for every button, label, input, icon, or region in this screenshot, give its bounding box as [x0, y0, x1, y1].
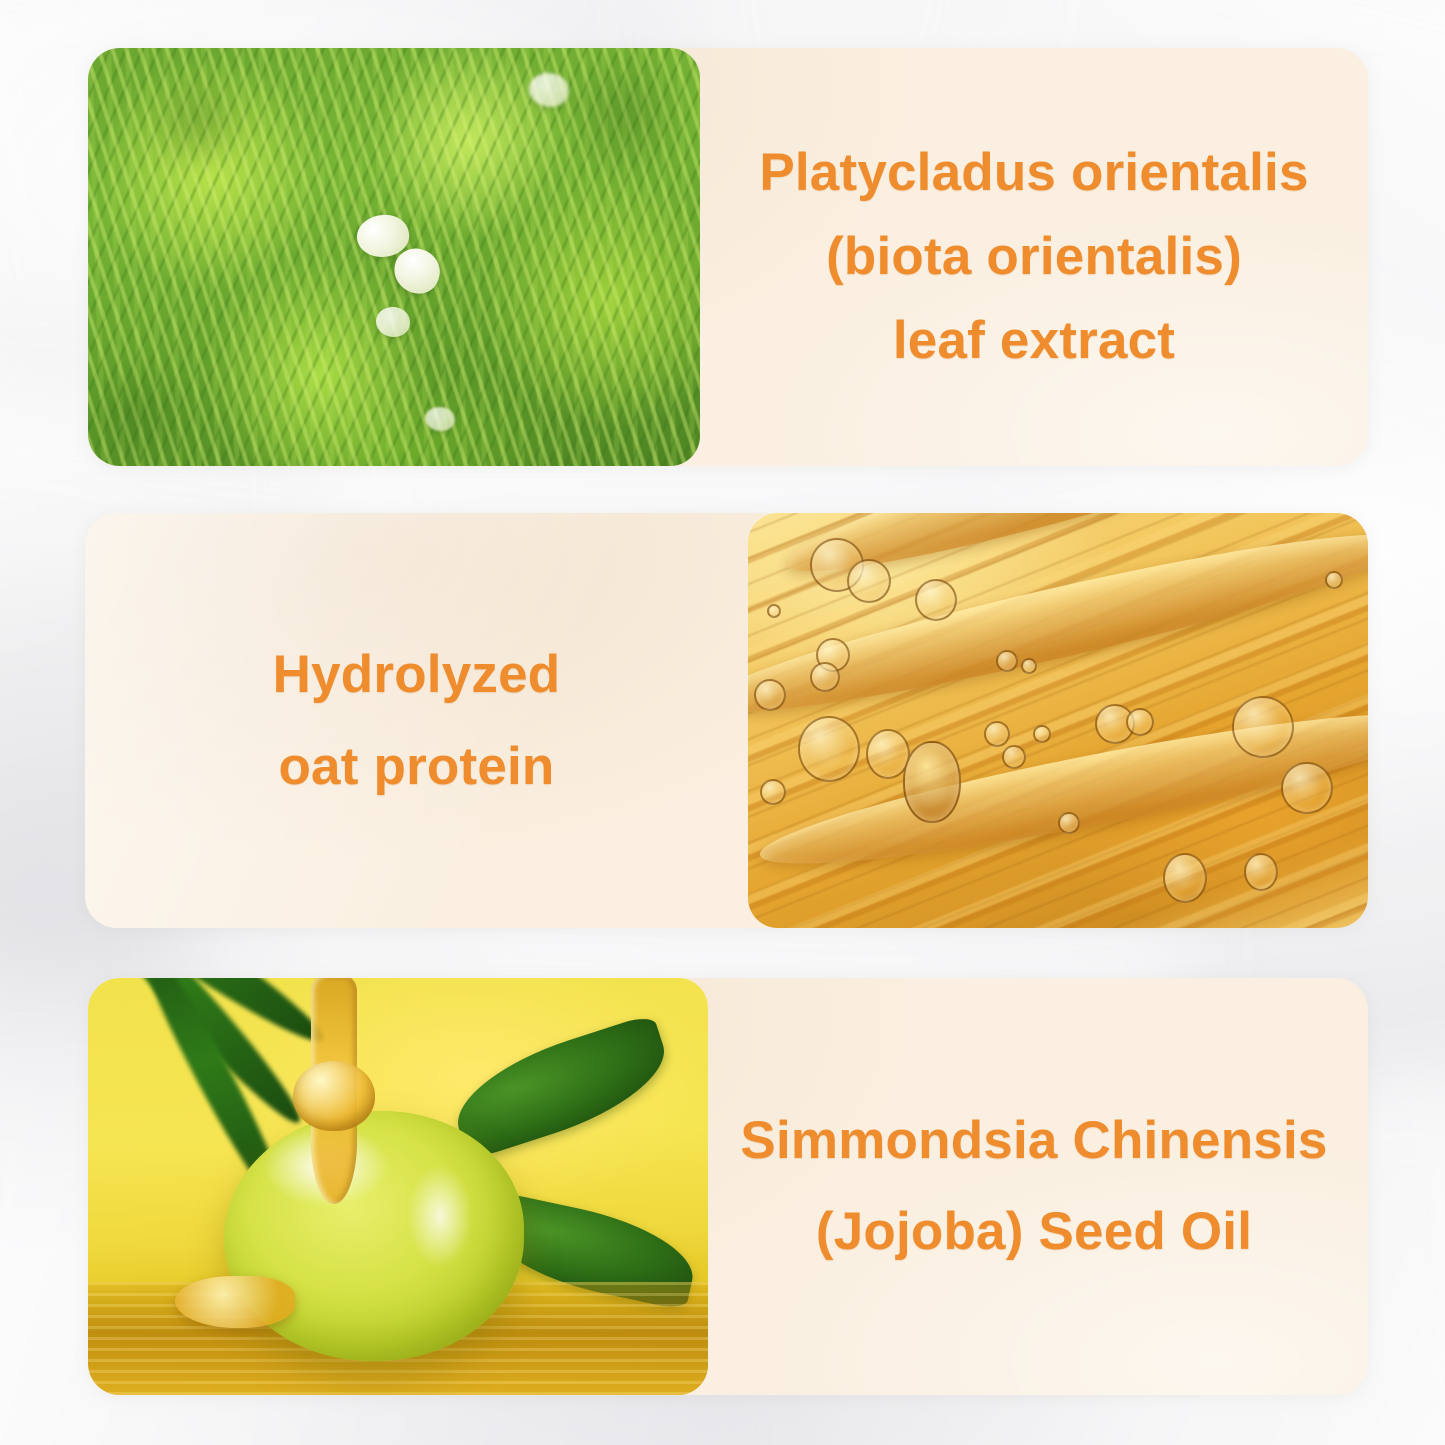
oil-bubble — [847, 559, 891, 603]
oil-bubble — [1232, 696, 1294, 758]
oil-bubble — [1281, 762, 1333, 814]
oil-bubble — [1021, 658, 1037, 674]
oil-bubble — [767, 604, 781, 618]
cypress-cone — [529, 73, 569, 107]
wheat-in-oil-photo — [748, 513, 1368, 928]
oil-bubble — [1058, 812, 1080, 834]
jojoba-fruit-oil-photo — [88, 978, 708, 1395]
oil-bubble — [754, 679, 786, 711]
label-line: oat protein — [278, 721, 554, 812]
label-line: Hydrolyzed — [273, 629, 561, 720]
oil-bubble — [984, 721, 1010, 747]
label-line: Simmondsia Chinensis — [740, 1096, 1327, 1186]
oil-bubble — [903, 741, 961, 823]
foliage-depth-blur — [88, 48, 700, 466]
oil-bubble — [1033, 725, 1051, 743]
ingredient-label-biota: Platycladus orientalis (biota orientalis… — [700, 48, 1368, 466]
ingredient-label-jojoba: Simmondsia Chinensis (Jojoba) Seed Oil — [700, 978, 1368, 1395]
label-line: (biota orientalis) — [826, 215, 1242, 299]
label-line: (Jojoba) Seed Oil — [816, 1187, 1252, 1277]
label-line: Platycladus orientalis — [759, 131, 1308, 215]
ingredient-label-oat: Hydrolyzed oat protein — [85, 513, 748, 928]
oil-bubble — [760, 779, 786, 805]
oil-droplet — [293, 1061, 375, 1131]
oil-bubble — [798, 716, 860, 782]
oil-bubble — [996, 650, 1018, 672]
label-line: leaf extract — [893, 299, 1175, 383]
oil-bubble — [1325, 571, 1343, 589]
cypress-foliage-photo — [88, 48, 700, 466]
